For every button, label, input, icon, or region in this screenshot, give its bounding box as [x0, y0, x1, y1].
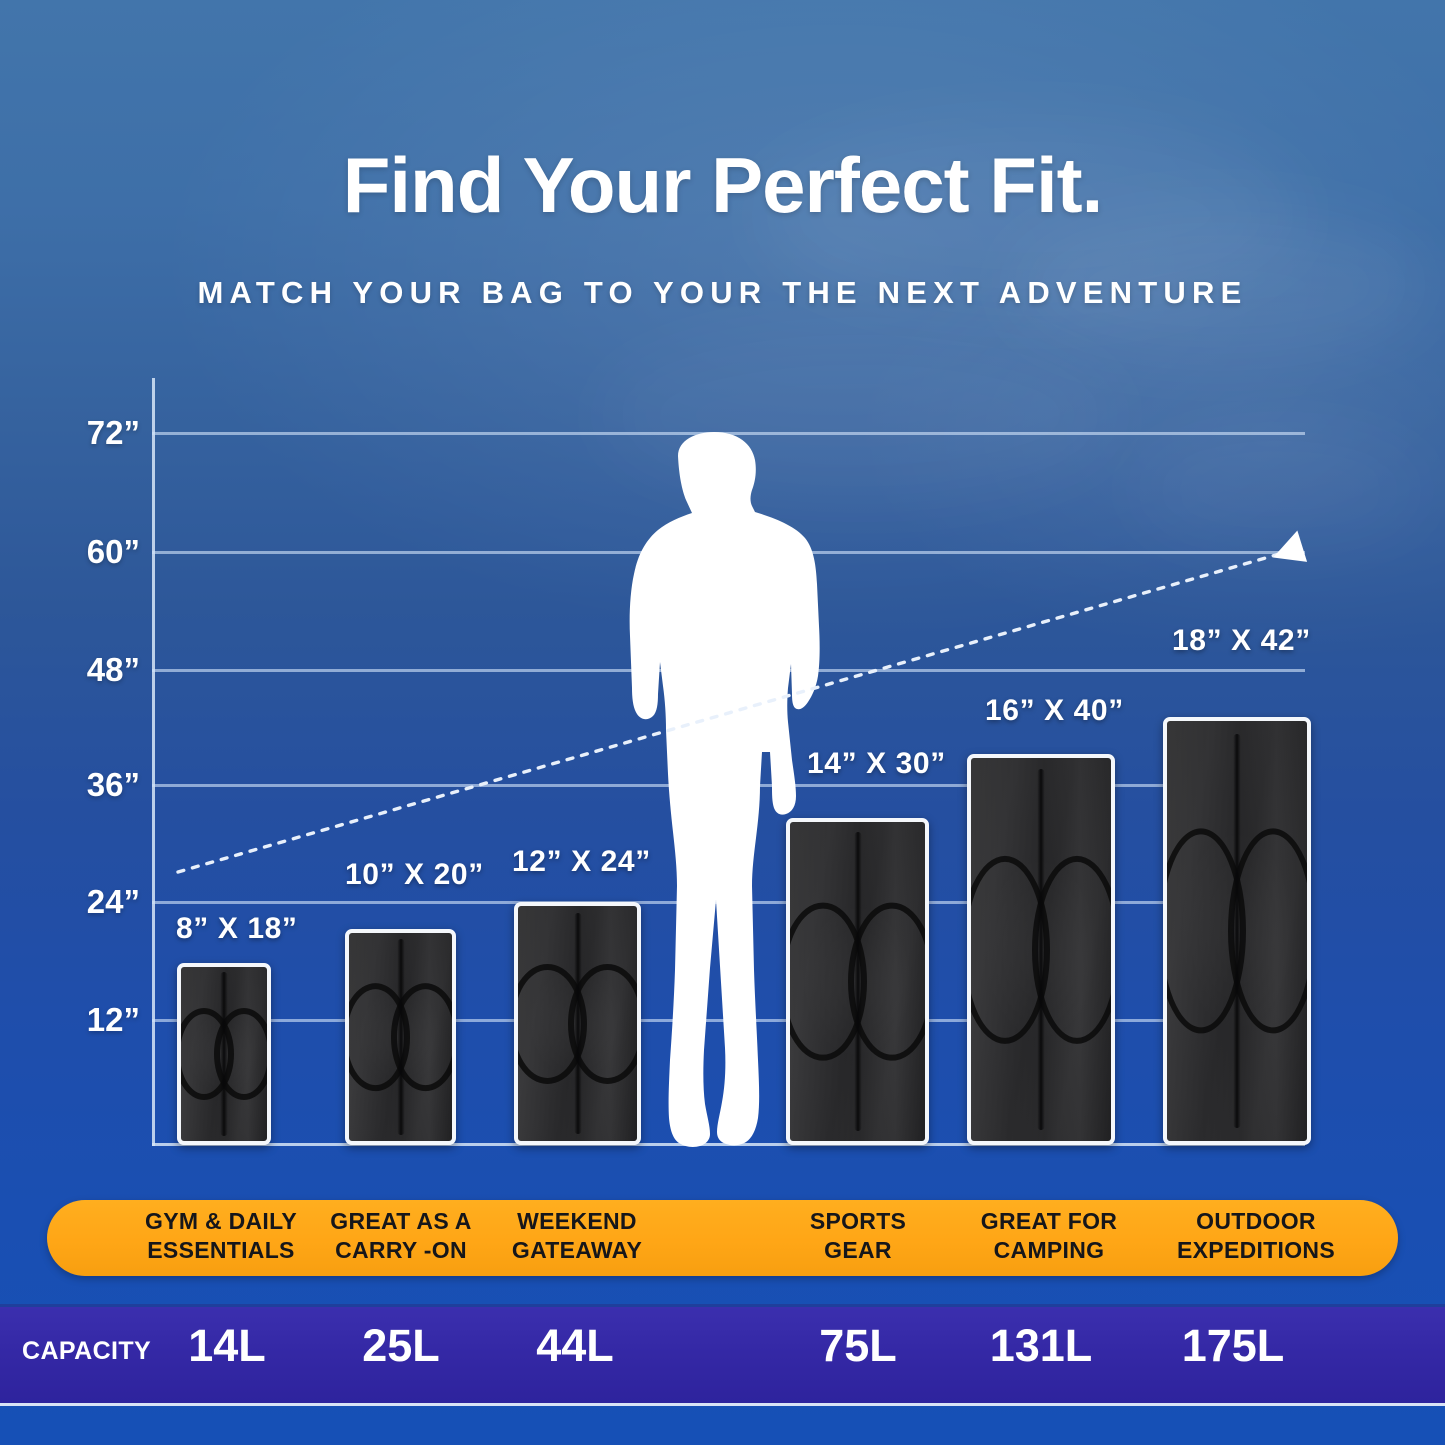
bag-bar-5[interactable] [967, 754, 1115, 1145]
capacity-value-3: 44L [500, 1320, 650, 1372]
y-axis-line [152, 378, 155, 1146]
bag-dim-label-3: 12” X 24” [512, 845, 651, 879]
usecase-label-2: GREAT AS A CARRY -ON [308, 1207, 494, 1265]
usecase-line1-1: GYM & DAILY [128, 1207, 314, 1236]
usecase-line1-4: SPORTS [772, 1207, 944, 1236]
capacity-value-6: 175L [1150, 1320, 1316, 1372]
bag-bar-3[interactable] [514, 902, 641, 1145]
bag-seam-5 [1038, 769, 1045, 1129]
usecase-label-1: GYM & DAILY ESSENTIALS [128, 1207, 314, 1265]
bag-dim-label-2: 10” X 20” [345, 858, 484, 892]
bag-dim-label-6: 18” X 42” [1172, 624, 1311, 658]
y-tick-label-24: 24” [0, 883, 140, 921]
usecase-line2-6: EXPEDITIONS [1148, 1236, 1364, 1265]
capacity-value-1: 14L [152, 1320, 302, 1372]
capacity-value-4: 75L [783, 1320, 933, 1372]
usecase-line2-2: CARRY -ON [308, 1236, 494, 1265]
y-tick-label-12: 12” [0, 1001, 140, 1039]
bag-seam-2 [397, 939, 404, 1135]
y-tick-label-48: 48” [0, 651, 140, 689]
bag-dim-label-4: 14” X 30” [807, 747, 946, 781]
usecase-line1-5: GREAT FOR [956, 1207, 1142, 1236]
bag-seam-1 [221, 972, 228, 1136]
usecase-label-6: OUTDOOR EXPEDITIONS [1148, 1207, 1364, 1265]
usecase-line1-6: OUTDOOR [1148, 1207, 1364, 1236]
bag-bar-6[interactable] [1163, 717, 1311, 1145]
y-tick-label-36: 36” [0, 766, 140, 804]
bag-dim-label-1: 8” X 18” [176, 912, 298, 946]
bag-seam-4 [854, 832, 861, 1132]
bag-seam-6 [1234, 734, 1241, 1129]
infographic-canvas: Find Your Perfect Fit. MATCH YOUR BAG TO… [0, 0, 1445, 1445]
y-tick-label-72: 72” [0, 414, 140, 452]
capacity-row-label: CAPACITY [22, 1337, 162, 1366]
capacity-value-5: 131L [958, 1320, 1124, 1372]
bag-bar-1[interactable] [177, 963, 271, 1145]
bag-bar-2[interactable] [345, 929, 456, 1145]
usecase-line2-1: ESSENTIALS [128, 1236, 314, 1265]
usecase-label-4: SPORTS GEAR [772, 1207, 944, 1265]
capacity-value-2: 25L [326, 1320, 476, 1372]
usecase-line1-3: WEEKEND [484, 1207, 670, 1236]
y-tick-label-60: 60” [0, 533, 140, 571]
bag-seam-3 [574, 913, 581, 1134]
usecase-label-3: WEEKEND GATEAWAY [484, 1207, 670, 1265]
bag-dim-label-5: 16” X 40” [985, 694, 1124, 728]
usecase-label-5: GREAT FOR CAMPING [956, 1207, 1142, 1265]
usecase-line2-3: GATEAWAY [484, 1236, 670, 1265]
usecase-line2-4: GEAR [772, 1236, 944, 1265]
bag-bar-4[interactable] [786, 818, 929, 1145]
usecase-line1-2: GREAT AS A [308, 1207, 494, 1236]
usecase-line2-5: CAMPING [956, 1236, 1142, 1265]
